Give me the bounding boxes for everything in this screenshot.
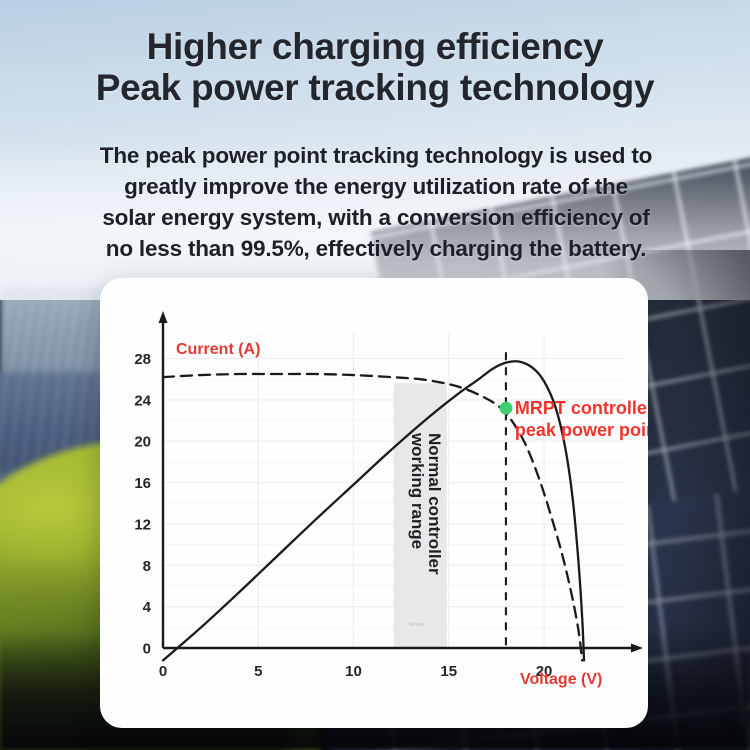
description-line-1: The peak power point tracking technology…: [38, 140, 714, 171]
y-tick-label: 16: [134, 475, 151, 492]
y-axis-label: Current (A): [176, 341, 260, 358]
band-label-line-2: working range: [408, 432, 427, 549]
legend-label-line-1: MRPT controller: [515, 398, 648, 418]
headline-block: Higher charging efficiency Peak power tr…: [0, 26, 750, 109]
x-tick-label: 15: [440, 663, 457, 680]
y-tick-label: 20: [134, 434, 151, 451]
peak-power-point-dot[interactable]: [499, 402, 512, 415]
x-axis-tick-labels: 05101520: [159, 663, 553, 680]
y-tick-label: 28: [134, 351, 151, 368]
description-line-2: greatly improve the energy utilization r…: [38, 171, 714, 202]
iv-power-curve-chart: 0481216202428 05101520 Current (A) Volta…: [100, 278, 648, 728]
y-tick-label: 4: [143, 599, 152, 616]
chart-card: 0481216202428 05101520 Current (A) Volta…: [100, 278, 648, 728]
x-axis-label: Voltage (V): [520, 671, 602, 688]
y-tick-label: 8: [143, 558, 151, 575]
watermark-text: Renogy: [408, 621, 424, 626]
x-tick-label: 0: [159, 663, 167, 680]
x-tick-label: 5: [254, 663, 262, 680]
legend-label-line-2: peak power point: [515, 420, 648, 440]
headline-line-1: Higher charging efficiency: [0, 26, 750, 67]
description-line-3: solar energy system, with a conversion e…: [38, 202, 714, 233]
description-paragraph: The peak power point tracking technology…: [38, 140, 714, 264]
y-axis-tick-labels: 0481216202428: [134, 351, 151, 657]
x-tick-label: 10: [345, 663, 362, 680]
description-line-4: no less than 99.5%, effectively charging…: [38, 233, 714, 264]
headline-line-2: Peak power tracking technology: [0, 67, 750, 108]
y-tick-label: 12: [134, 516, 151, 533]
y-tick-label: 0: [143, 641, 151, 658]
y-tick-label: 24: [134, 392, 151, 409]
